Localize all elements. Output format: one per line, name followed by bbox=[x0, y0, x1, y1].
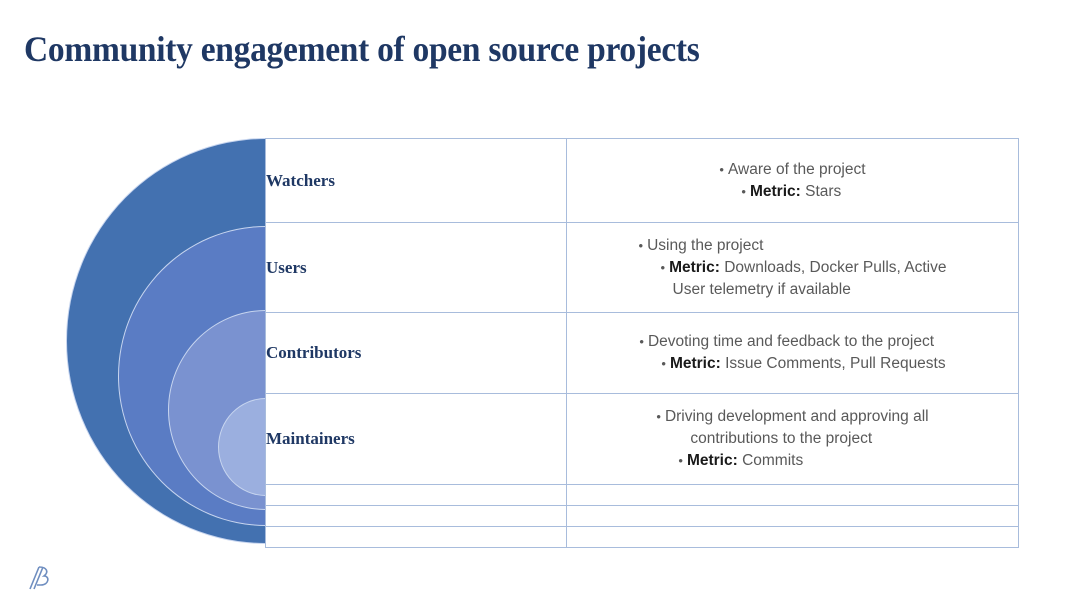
bullet-list: •Devoting time and feedback to the proje… bbox=[639, 331, 945, 375]
bullet-dot: • bbox=[678, 453, 683, 468]
bullet-text: Devoting time and feedback to the projec… bbox=[648, 333, 934, 350]
bullet-dot: • bbox=[741, 184, 746, 199]
bullet-dot: • bbox=[656, 409, 661, 424]
bullet-line: •Metric: Issue Comments, Pull Requests bbox=[639, 353, 945, 375]
table-row bbox=[266, 527, 1019, 548]
row-label-empty bbox=[266, 506, 567, 527]
page-title: Community engagement of open source proj… bbox=[24, 28, 954, 70]
bullet-dot: • bbox=[639, 238, 644, 253]
row-detail-empty bbox=[567, 506, 1019, 527]
bullet-line: •Aware of the project bbox=[719, 159, 865, 181]
bullet-dot: • bbox=[661, 260, 666, 275]
row-detail-empty bbox=[567, 485, 1019, 506]
row-label-contributors: Contributors bbox=[266, 313, 567, 394]
rings-clip bbox=[0, 0, 265, 608]
bullet-list: •Using the project •Metric: Downloads, D… bbox=[639, 235, 947, 301]
bullet-dot: • bbox=[661, 356, 666, 371]
table-row: Maintainers •Driving development and app… bbox=[266, 394, 1019, 485]
bullet-line: •Driving development and approving all bbox=[656, 406, 928, 428]
bullet-list: •Driving development and approving all c… bbox=[656, 406, 928, 472]
table-row: Watchers •Aware of the project •Metric: … bbox=[266, 139, 1019, 223]
row-detail-maintainers: •Driving development and approving all c… bbox=[567, 394, 1019, 485]
metric-label: Metric: bbox=[687, 452, 738, 469]
bullet-line-continuation: User telemetry if available bbox=[639, 279, 947, 301]
stakeholder-table: Watchers •Aware of the project •Metric: … bbox=[265, 138, 1019, 548]
bullet-line: •Metric: Stars bbox=[719, 181, 865, 203]
bullet-line: •Using the project bbox=[639, 235, 947, 257]
metric-label: Metric: bbox=[669, 259, 720, 276]
table-row bbox=[266, 506, 1019, 527]
table-row: Contributors •Devoting time and feedback… bbox=[266, 313, 1019, 394]
metric-value: Downloads, Docker Pulls, Active bbox=[724, 259, 946, 276]
bullet-dot: • bbox=[639, 334, 644, 349]
brand-logo-icon bbox=[26, 563, 52, 593]
metric-value: Issue Comments, Pull Requests bbox=[725, 355, 946, 372]
row-detail-empty bbox=[567, 527, 1019, 548]
metric-value: Commits bbox=[742, 452, 803, 469]
bullet-text: Using the project bbox=[647, 237, 763, 254]
row-label-users: Users bbox=[266, 223, 567, 313]
table-row bbox=[266, 485, 1019, 506]
row-detail-contributors: •Devoting time and feedback to the proje… bbox=[567, 313, 1019, 394]
bullet-line: •Devoting time and feedback to the proje… bbox=[639, 331, 945, 353]
community-rings-diagram bbox=[0, 0, 300, 608]
metric-label: Metric: bbox=[750, 183, 801, 200]
row-detail-users: •Using the project •Metric: Downloads, D… bbox=[567, 223, 1019, 313]
bullet-line-continuation: contributions to the project bbox=[656, 428, 928, 450]
bullet-line: •Metric: Downloads, Docker Pulls, Active bbox=[639, 257, 947, 279]
row-label-watchers: Watchers bbox=[266, 139, 567, 223]
bullet-text: Driving development and approving all bbox=[665, 408, 929, 425]
metric-value: Stars bbox=[805, 183, 841, 200]
row-label-empty bbox=[266, 527, 567, 548]
table-row: Users •Using the project •Metric: Downlo… bbox=[266, 223, 1019, 313]
row-detail-watchers: •Aware of the project •Metric: Stars bbox=[567, 139, 1019, 223]
row-label-maintainers: Maintainers bbox=[266, 394, 567, 485]
bullet-text: Aware of the project bbox=[728, 161, 866, 178]
metric-label: Metric: bbox=[670, 355, 721, 372]
bullet-dot: • bbox=[719, 162, 724, 177]
row-label-empty bbox=[266, 485, 567, 506]
bullet-list: •Aware of the project •Metric: Stars bbox=[719, 159, 865, 203]
bullet-line: •Metric: Commits bbox=[656, 450, 928, 472]
